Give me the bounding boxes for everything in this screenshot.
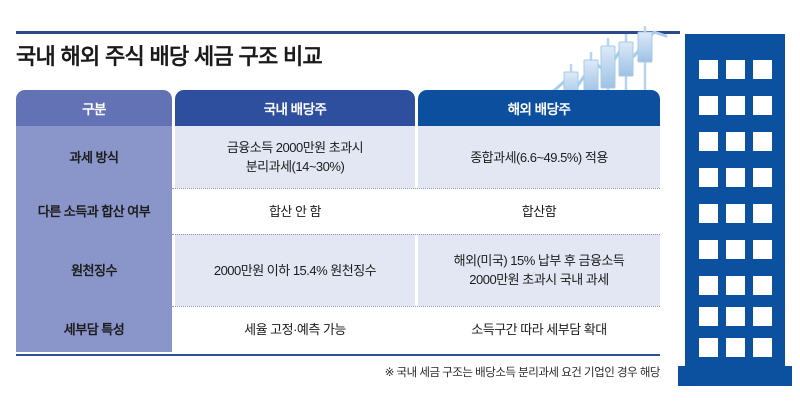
table-header-domestic: 국내 배당주 [175,90,415,126]
row-value-domestic: 금융소득 2000만원 초과시분리과세(14~30%) [175,126,415,188]
row-value-overseas: 소득구간 따라 세부담 확대 [418,306,660,352]
office-building-icon [678,34,792,386]
row-value-overseas: 해외(미국) 15% 납부 후 금융소득2000만원 초과시 국내 과세 [418,234,660,306]
table-row: 과세 방식 금융소득 2000만원 초과시분리과세(14~30%) 종합과세(6… [16,126,660,188]
row-label: 원천징수 [16,234,172,306]
title-top-rule [16,31,680,34]
row-separator [172,234,660,235]
table-header-overseas: 해외 배당주 [418,90,660,126]
row-label: 과세 방식 [16,126,172,188]
row-value-overseas: 종합과세(6.6~49.5%) 적용 [418,126,660,188]
row-value-domestic: 2000만원 이하 15.4% 원천징수 [175,234,415,306]
table-body: 과세 방식 금융소득 2000만원 초과시분리과세(14~30%) 종합과세(6… [16,126,660,352]
row-label: 다른 소득과 합산 여부 [16,188,172,234]
page-title: 국내 해외 주식 배당 세금 구조 비교 [16,42,576,72]
table-bottom-rule [16,354,660,356]
row-value-overseas: 합산함 [418,188,660,234]
table-header-category: 구분 [16,90,172,126]
table-row: 원천징수 2000만원 이하 15.4% 원천징수 해외(미국) 15% 납부 … [16,234,660,306]
row-separator [172,188,660,189]
infographic-root: 국내 해외 주식 배당 세금 구조 비교 구분 [0,0,800,418]
row-label: 세부담 특성 [16,306,172,352]
table-row: 세부담 특성 세율 고정·예측 가능 소득구간 따라 세부담 확대 [16,306,660,352]
row-value-domestic: 합산 안 함 [175,188,415,234]
row-value-domestic: 세율 고정·예측 가능 [175,306,415,352]
comparison-table: 구분 국내 배당주 해외 배당주 과세 방식 금융소득 2000만원 초과시분리… [16,90,660,355]
row-separator [172,306,660,307]
footnote: ※ 국내 세금 구조는 배당소득 분리과세 요건 기업인 경우 해당 [385,364,660,380]
table-header-row: 구분 국내 배당주 해외 배당주 [16,90,660,126]
table-row: 다른 소득과 합산 여부 합산 안 함 합산함 [16,188,660,234]
